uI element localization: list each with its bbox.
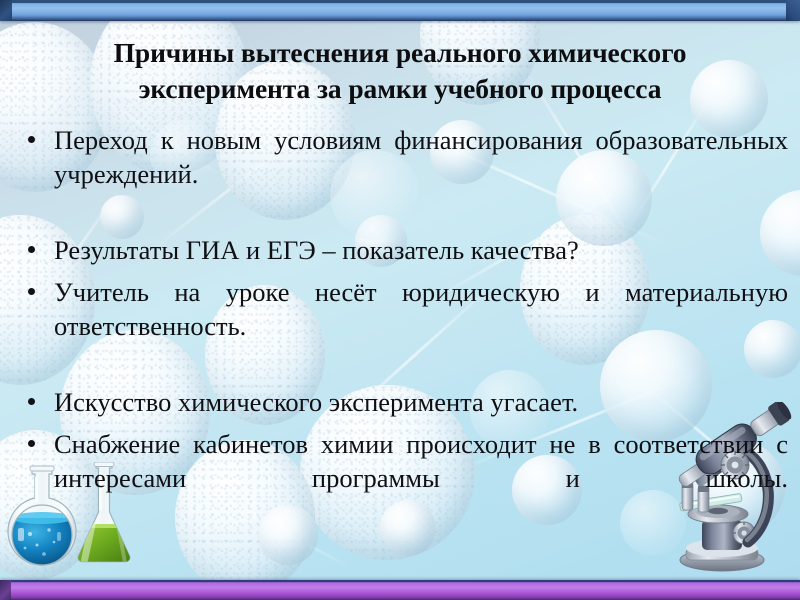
slide-content: Причины вытеснения реального химического… (0, 21, 800, 580)
top-accent-bar (0, 0, 800, 21)
bottom-accent-bar (0, 580, 800, 600)
title-line-2: эксперимента за рамки учебного процесса (44, 71, 756, 107)
list-item: Учитель на уроке несёт юридическую и мат… (14, 275, 788, 377)
bullet-list: Переход к новым условиям финансирования … (14, 123, 788, 530)
bullet-text-3: Учитель на уроке несёт юридическую и мат… (54, 277, 788, 375)
presentation-slide: Причины вытеснения реального химического… (0, 0, 800, 600)
bullet-dot-icon (28, 136, 35, 143)
bullet-dot-icon (28, 246, 35, 253)
bullet-text-4: Искусство химического эксперимента угаса… (54, 387, 578, 417)
bullet-text-2: Результаты ГИА и ЕГЭ – показатель качест… (54, 235, 579, 265)
bullet-text-5: Снабжение кабинетов химии происходит не … (54, 429, 788, 527)
bullet-dot-icon (28, 288, 35, 295)
bullet-dot-icon (28, 398, 35, 405)
list-item: Результаты ГИА и ЕГЭ – показатель качест… (14, 233, 788, 267)
bullet-text-1: Переход к новым условиям финансирования … (54, 125, 788, 223)
list-item: Снабжение кабинетов химии происходит не … (14, 427, 788, 529)
list-item: Искусство химического эксперимента угаса… (14, 385, 788, 419)
title-line-1: Причины вытеснения реального химического (44, 35, 756, 71)
page-title: Причины вытеснения реального химического… (44, 35, 756, 107)
list-item: Переход к новым условиям финансирования … (14, 123, 788, 225)
bullet-dot-icon (28, 440, 35, 447)
